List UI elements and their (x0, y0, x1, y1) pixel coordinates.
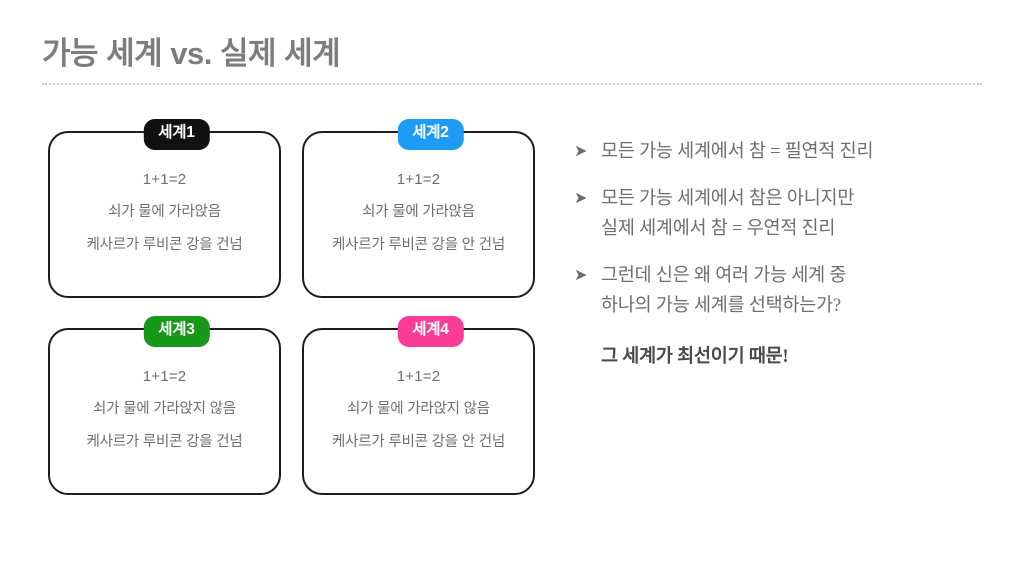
world-line: 케사르가 루비콘 강을 건넘 (86, 433, 242, 452)
arrow-bullet-icon: ➤ (574, 185, 601, 212)
world-line: 1+1=2 (397, 367, 441, 387)
note-text: 모든 가능 세계에서 참은 아니지만 실제 세계에서 참 = 우연적 진리 (601, 185, 854, 245)
slide-canvas: 가능 세계 vs. 실제 세계 세계1 1+1=2 쇠가 물에 가라앉음 케사르… (0, 0, 1024, 576)
world-line: 1+1=2 (143, 367, 187, 387)
note-text: 모든 가능 세계에서 참 = 필연적 진리 (601, 138, 873, 168)
title-block: 가능 세계 vs. 실제 세계 (42, 36, 982, 85)
arrow-bullet-icon: ➤ (574, 262, 601, 289)
note-conclusion: 그 세계가 최선이기 때문! (601, 343, 994, 373)
note-item: ➤ 모든 가능 세계에서 참 = 필연적 진리 (574, 138, 994, 168)
world-badge-1: 세계1 (143, 119, 209, 150)
note-item: ➤ 모든 가능 세계에서 참은 아니지만 실제 세계에서 참 = 우연적 진리 (574, 185, 994, 245)
world-box-4: 세계4 1+1=2 쇠가 물에 가라앉지 않음 케사르가 루비콘 강을 안 건넘 (302, 328, 535, 495)
note-text: 그런데 신은 왜 여러 가능 세계 중 하나의 가능 세계를 선택하는가? (601, 262, 846, 322)
world-line: 쇠가 물에 가라앉음 (108, 203, 221, 222)
note-item: ➤ 그런데 신은 왜 여러 가능 세계 중 하나의 가능 세계를 선택하는가? (574, 262, 994, 322)
world-line: 쇠가 물에 가라앉지 않음 (347, 400, 490, 419)
possible-worlds-grid: 세계1 1+1=2 쇠가 물에 가라앉음 케사르가 루비콘 강을 건넘 세계2 … (48, 131, 538, 501)
world-box-2: 세계2 1+1=2 쇠가 물에 가라앉음 케사르가 루비콘 강을 안 건넘 (302, 131, 535, 298)
world-box-3: 세계3 1+1=2 쇠가 물에 가라앉지 않음 케사르가 루비콘 강을 건넘 (48, 328, 281, 495)
world-line: 쇠가 물에 가라앉지 않음 (93, 400, 236, 419)
world-line: 케사르가 루비콘 강을 건넘 (86, 236, 242, 255)
world-badge-4: 세계4 (397, 316, 463, 347)
world-box-1: 세계1 1+1=2 쇠가 물에 가라앉음 케사르가 루비콘 강을 건넘 (48, 131, 281, 298)
title-divider (42, 83, 982, 85)
world-line: 1+1=2 (143, 170, 187, 190)
world-line: 케사르가 루비콘 강을 안 건넘 (332, 433, 505, 452)
world-line: 케사르가 루비콘 강을 안 건넘 (332, 236, 505, 255)
page-title: 가능 세계 vs. 실제 세계 (42, 36, 982, 73)
world-line: 쇠가 물에 가라앉음 (362, 203, 475, 222)
notes-column: ➤ 모든 가능 세계에서 참 = 필연적 진리 ➤ 모든 가능 세계에서 참은 … (574, 138, 994, 373)
arrow-bullet-icon: ➤ (574, 138, 601, 165)
world-badge-2: 세계2 (397, 119, 463, 150)
world-badge-3: 세계3 (143, 316, 209, 347)
world-line: 1+1=2 (397, 170, 441, 190)
